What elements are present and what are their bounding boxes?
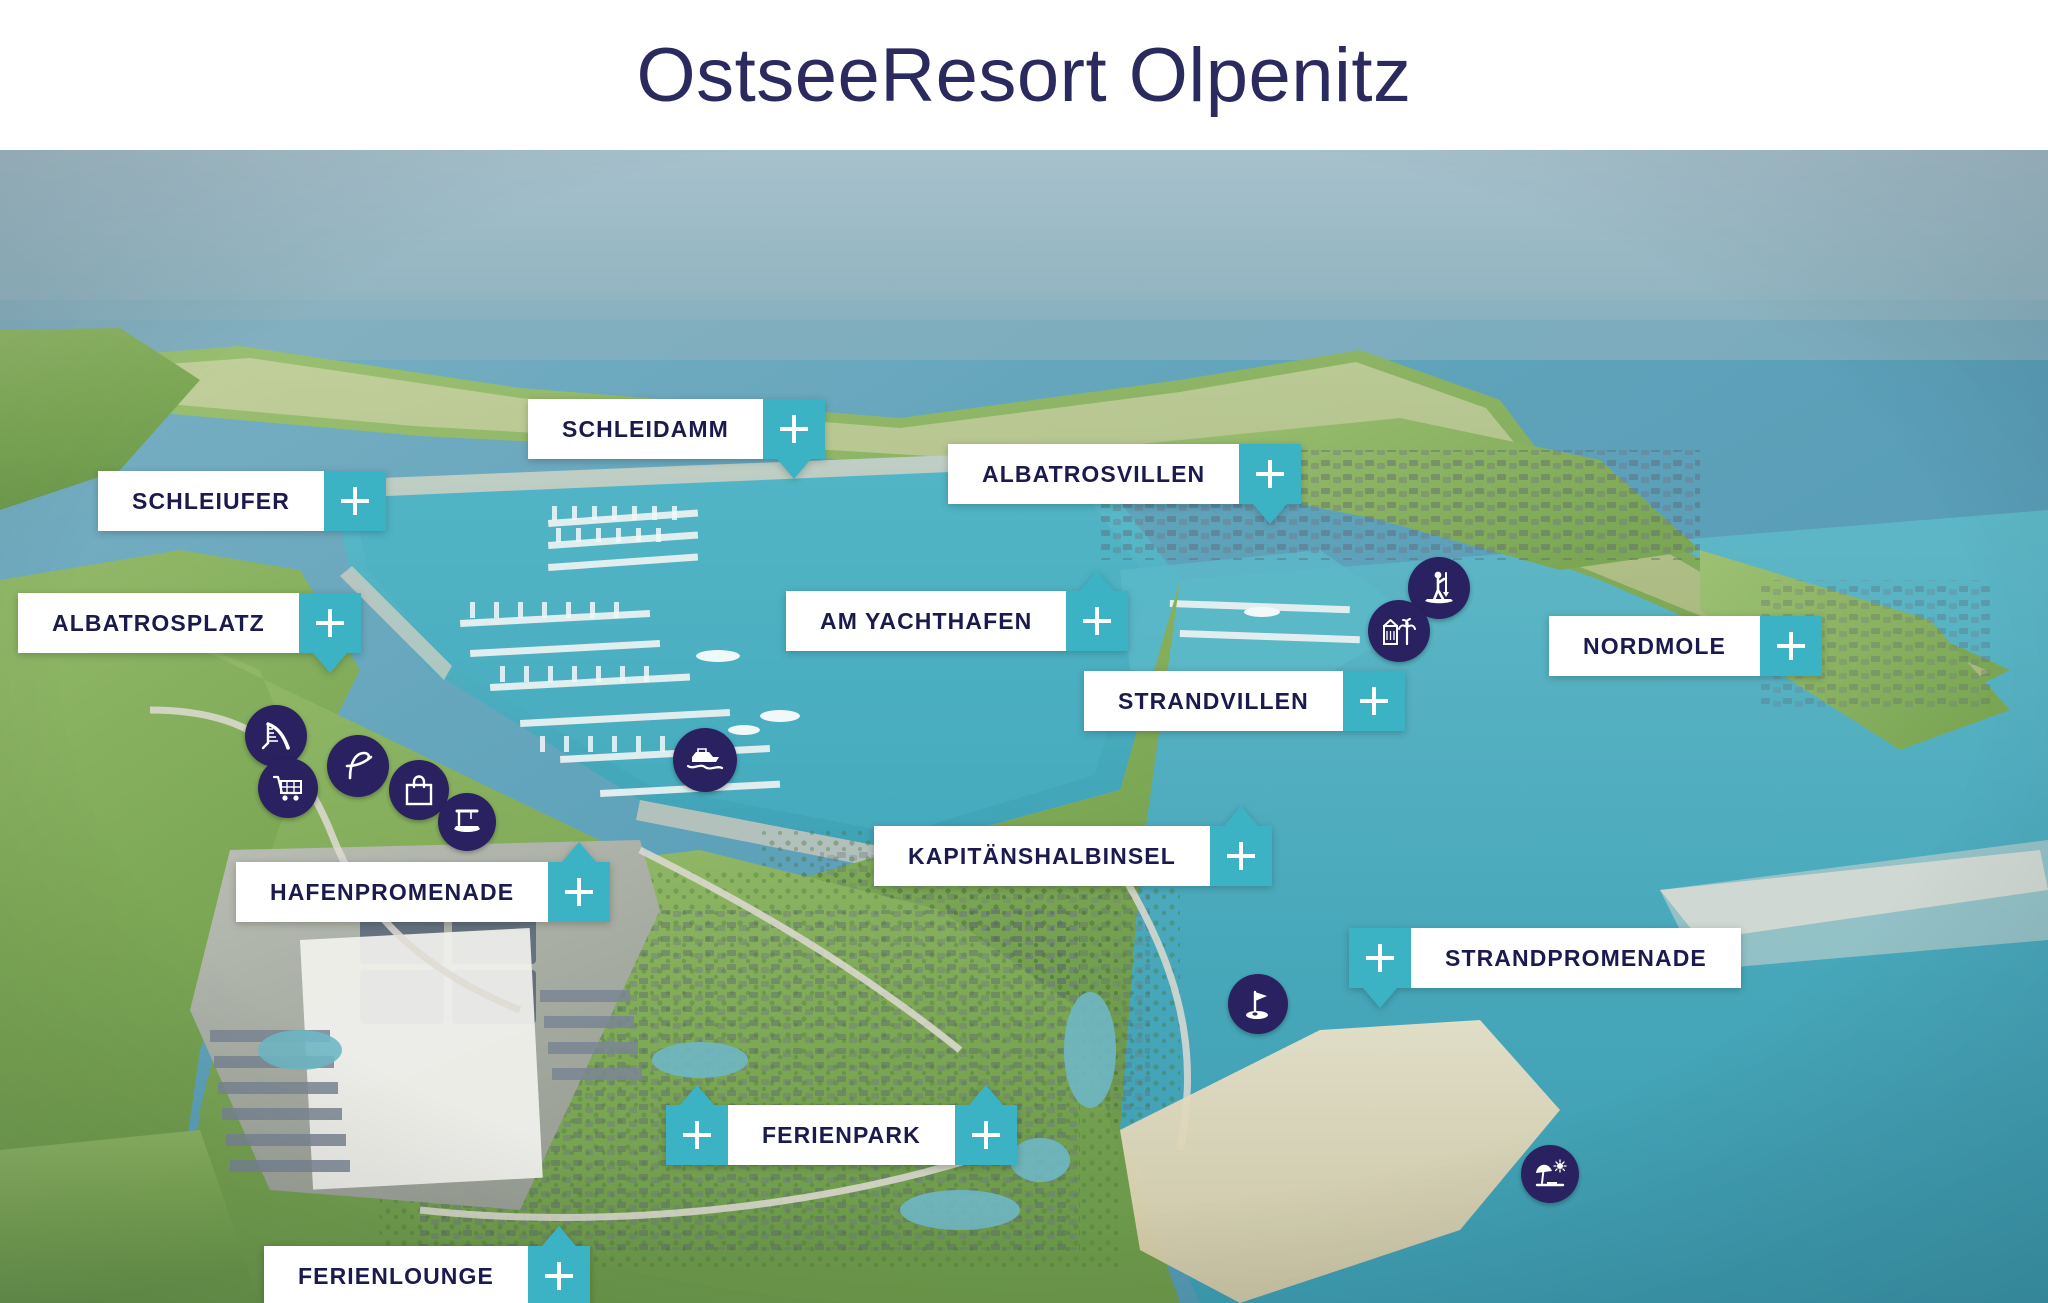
hotspot-ferienlounge[interactable]: FERIENLOUNGE (264, 1246, 590, 1303)
hotspot-hafenpromenade[interactable]: HAFENPROMENADE (236, 862, 610, 922)
poi-resort-brand[interactable] (327, 735, 389, 797)
shopping-bag-icon (404, 774, 434, 806)
hotspot-label: FERIENLOUNGE (264, 1246, 528, 1303)
aquapark-palm-icon (1382, 614, 1416, 648)
plus-icon[interactable] (1210, 826, 1272, 886)
hotspot-label: HAFENPROMENADE (236, 862, 548, 922)
hotspot-schleidamm[interactable]: SCHLEIDAMM (528, 399, 825, 459)
hotspot-label: FERIENPARK (728, 1105, 955, 1165)
poi-beach[interactable] (1521, 1145, 1579, 1203)
poi-water-slide[interactable] (245, 705, 307, 767)
plus-icon[interactable] (1349, 928, 1411, 988)
hotspot-label: SCHLEIUFER (98, 471, 324, 531)
hotspot-albatrosplatz[interactable]: ALBATROSPLATZ (18, 593, 361, 653)
aerial-map-image (0, 150, 2048, 1303)
shopping-cart-icon (272, 772, 304, 804)
boat-crane-icon (451, 807, 483, 837)
page-title: OstseeResort Olpenitz (636, 32, 1411, 119)
plus-icon[interactable] (299, 593, 361, 653)
hotspot-strandvillen[interactable]: STRANDVILLEN (1084, 671, 1405, 731)
poi-shopping[interactable] (258, 758, 318, 818)
motorboat-icon (686, 746, 724, 774)
hotspot-label: KAPITÄNSHALBINSEL (874, 826, 1210, 886)
water-slide-icon (259, 719, 293, 753)
poi-golf[interactable] (1228, 974, 1288, 1034)
hotspot-nordmole[interactable]: NORDMOLE (1549, 616, 1822, 676)
page-header: OstseeResort Olpenitz (0, 0, 2048, 150)
hotspot-kapitaenshalbinsel[interactable]: KAPITÄNSHALBINSEL (874, 826, 1272, 886)
hotspot-label: SCHLEIDAMM (528, 399, 763, 459)
plus-icon-left[interactable] (666, 1105, 728, 1165)
hotspot-strandpromenade[interactable]: STRANDPROMENADE (1349, 928, 1741, 988)
plus-icon[interactable] (1239, 444, 1301, 504)
plus-icon[interactable] (1760, 616, 1822, 676)
resort-map: SCHLEIDAMM SCHLEIUFER ALBATROSVILLEN ALB… (0, 150, 2048, 1303)
poi-boatyard[interactable] (438, 793, 496, 851)
plus-icon[interactable] (324, 471, 386, 531)
hotspot-schleiufer[interactable]: SCHLEIUFER (98, 471, 386, 531)
hotspot-label: STRANDPROMENADE (1411, 928, 1741, 988)
hotspot-label: ALBATROSPLATZ (18, 593, 299, 653)
beach-umbrella-icon (1533, 1159, 1567, 1189)
plus-icon-right[interactable] (955, 1105, 1017, 1165)
plus-icon[interactable] (1066, 591, 1128, 651)
hotspot-label: AM YACHTHAFEN (786, 591, 1066, 651)
f-monogram-icon (340, 748, 376, 784)
plus-icon[interactable] (548, 862, 610, 922)
poi-leisure-park[interactable] (1368, 600, 1430, 662)
paddleboard-icon (1422, 570, 1456, 606)
hotspot-label: ALBATROSVILLEN (948, 444, 1239, 504)
hotspot-ferienpark[interactable]: FERIENPARK (666, 1105, 1017, 1165)
hotspot-label: NORDMOLE (1549, 616, 1760, 676)
poi-marina[interactable] (673, 728, 737, 792)
plus-icon[interactable] (763, 399, 825, 459)
plus-icon[interactable] (528, 1246, 590, 1303)
golf-flag-icon (1242, 988, 1274, 1020)
hotspot-am-yachthafen[interactable]: AM YACHTHAFEN (786, 591, 1128, 651)
hotspot-label: STRANDVILLEN (1084, 671, 1343, 731)
hotspot-albatrosvillen[interactable]: ALBATROSVILLEN (948, 444, 1301, 504)
plus-icon[interactable] (1343, 671, 1405, 731)
